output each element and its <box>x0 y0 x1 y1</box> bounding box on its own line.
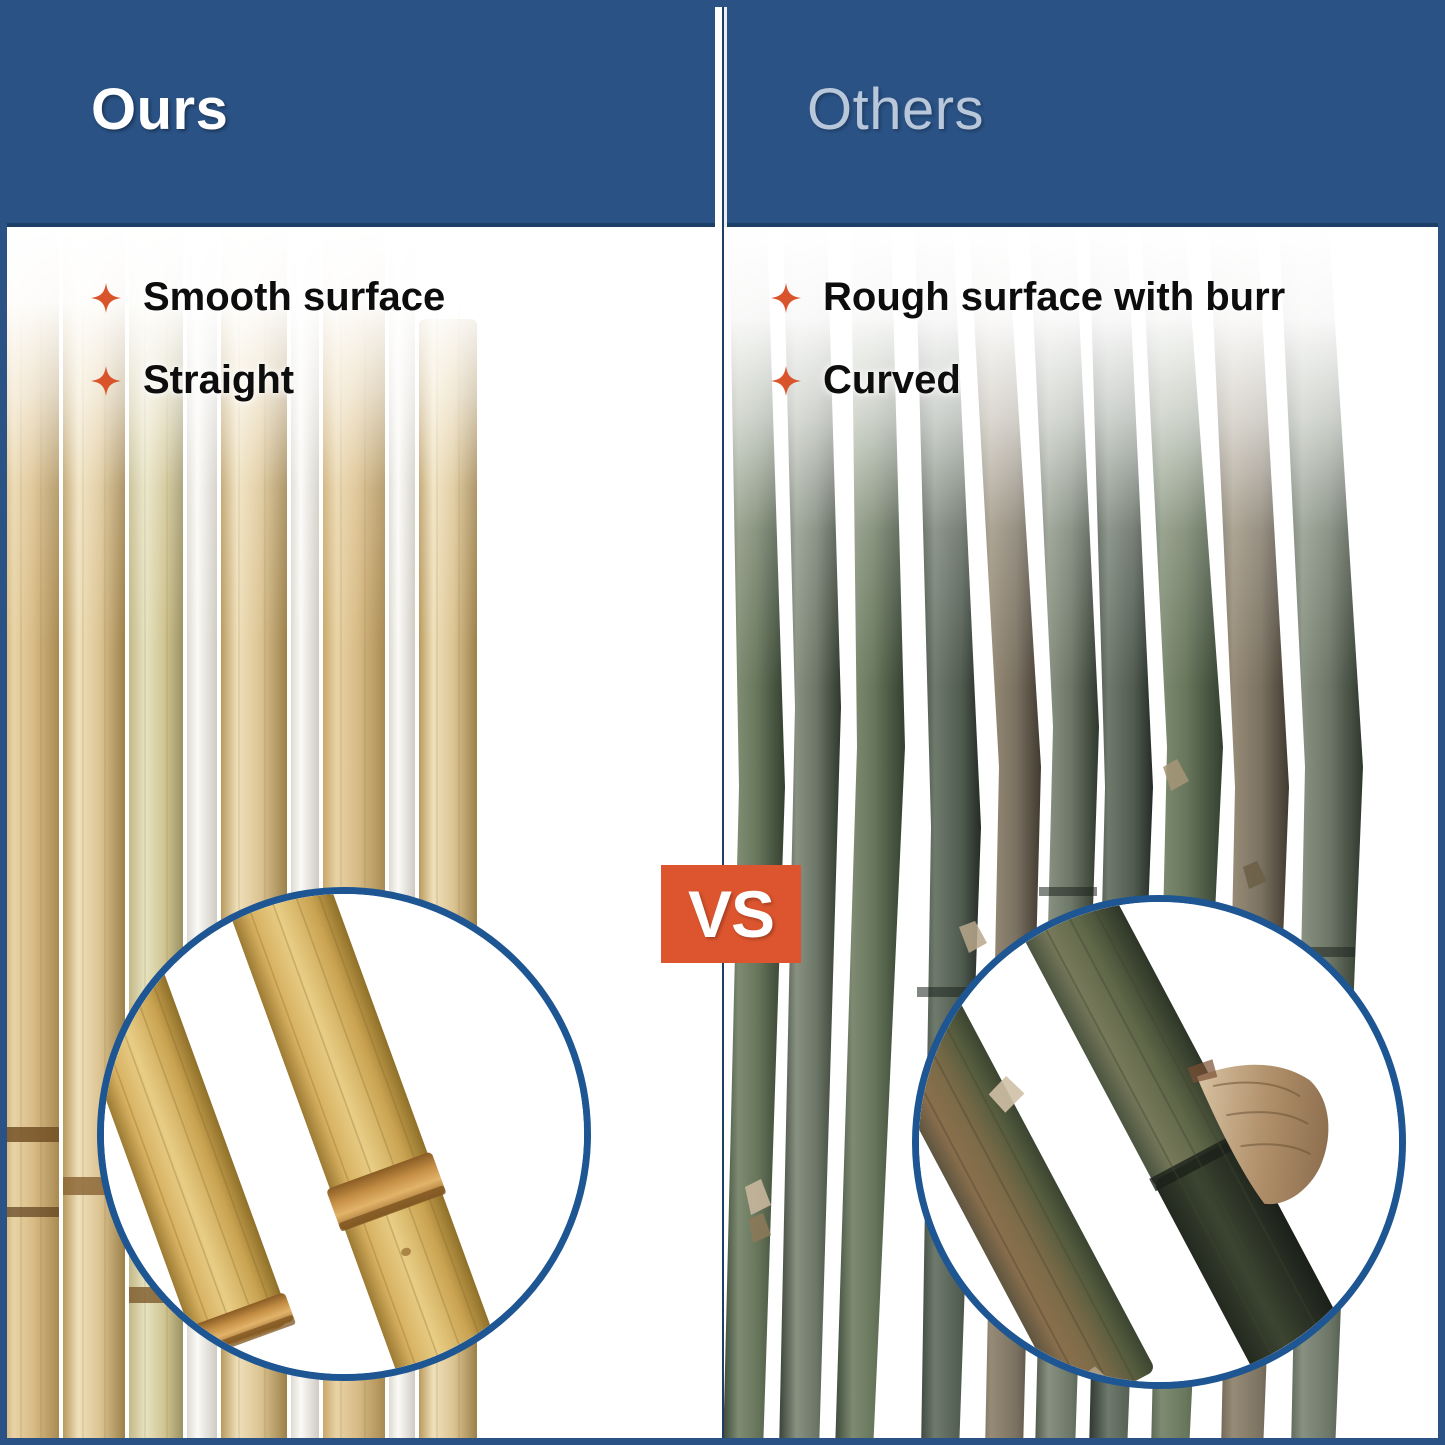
ours-bullet-list: Smooth surface Straight <box>91 275 445 441</box>
list-item: Rough surface with burr <box>771 275 1285 320</box>
page-title-ours: Ours <box>91 81 228 139</box>
vs-badge: VS <box>661 865 801 963</box>
others-bullet-list: Rough surface with burr Curved <box>771 275 1285 441</box>
others-magnified-stick <box>919 902 1399 1382</box>
ours-bullet-label-2: Straight <box>143 358 294 403</box>
list-item: Straight <box>91 358 445 403</box>
ours-header: Ours <box>7 7 722 227</box>
page-title-others: Others <box>807 81 984 139</box>
others-magnifier-circle <box>912 895 1406 1389</box>
ours-bullet-label-1: Smooth surface <box>143 275 445 320</box>
ours-photo: Smooth surface Straight <box>7 227 722 1438</box>
others-photo: Rough surface with burr Curved <box>723 227 1438 1438</box>
others-header: Others <box>723 7 1438 227</box>
others-bullet-label-2: Curved <box>823 358 961 403</box>
panel-others: Rough surface with burr Curved <box>723 7 1438 1438</box>
four-point-star-bullet-icon <box>91 366 121 396</box>
four-point-star-bullet-icon <box>771 283 801 313</box>
others-bullet-label-1: Rough surface with burr <box>823 275 1285 320</box>
panel-ours: Smooth surface Straight <box>7 7 722 1438</box>
center-divider-header-highlight <box>724 7 727 227</box>
ours-magnified-bamboo <box>104 894 584 1374</box>
four-point-star-bullet-icon <box>91 283 121 313</box>
vs-label: VS <box>688 881 774 947</box>
list-item: Curved <box>771 358 1285 403</box>
four-point-star-bullet-icon <box>771 366 801 396</box>
comparison-infographic: Smooth surface Straight <box>0 0 1445 1445</box>
ours-magnifier-circle <box>97 887 591 1381</box>
list-item: Smooth surface <box>91 275 445 320</box>
